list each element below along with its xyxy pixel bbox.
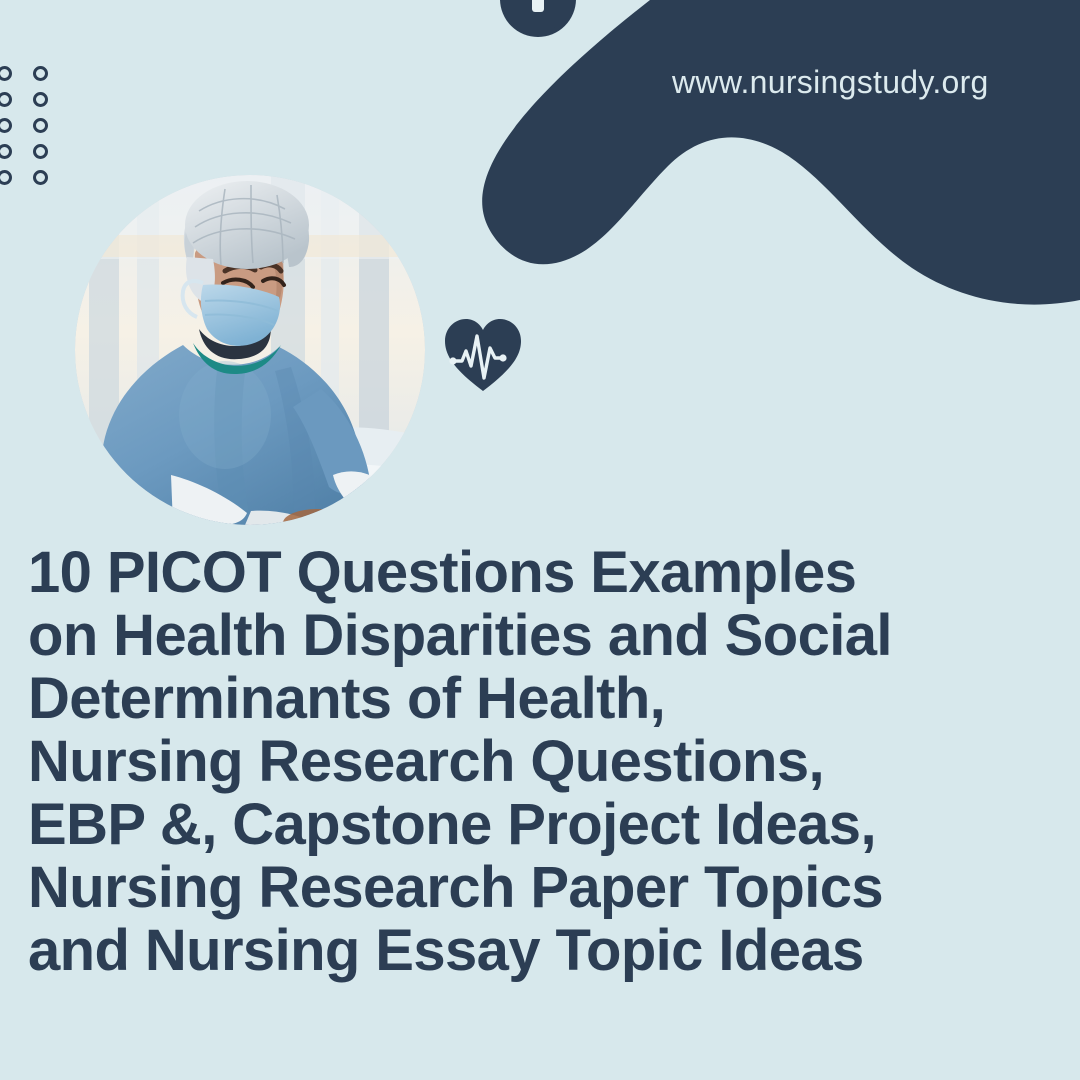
dot-grid-decoration — [0, 60, 58, 190]
grid-dot — [0, 170, 12, 185]
page-title: 10 PICOT Questions Examples on Health Di… — [28, 542, 1058, 982]
grid-dot — [33, 66, 48, 81]
nurse-photo-illustration — [75, 175, 425, 525]
grid-dot — [33, 144, 48, 159]
medical-cross-badge-icon — [497, 0, 579, 40]
nurse-photo — [75, 175, 425, 525]
grid-dot — [33, 118, 48, 133]
grid-dot — [33, 170, 48, 185]
title-line: Nursing Research Paper Topics — [28, 857, 1058, 920]
grid-dot — [0, 92, 12, 107]
grid-dot — [33, 92, 48, 107]
grid-dot — [0, 66, 12, 81]
title-line: EBP &, Capstone Project Ideas, — [28, 794, 1058, 857]
grid-dot — [0, 144, 12, 159]
title-line: on Health Disparities and Social — [28, 605, 1058, 668]
title-line: and Nursing Essay Topic Ideas — [28, 920, 1058, 983]
site-url-text: www.nursingstudy.org — [672, 64, 989, 101]
title-line: Determinants of Health, — [28, 668, 1058, 731]
title-line: 10 PICOT Questions Examples — [28, 542, 1058, 605]
title-line: Nursing Research Questions, — [28, 731, 1058, 794]
heartbeat-heart-icon — [443, 316, 523, 394]
grid-dot — [0, 118, 12, 133]
poster-canvas: www.nursingstudy.org — [0, 0, 1080, 1080]
